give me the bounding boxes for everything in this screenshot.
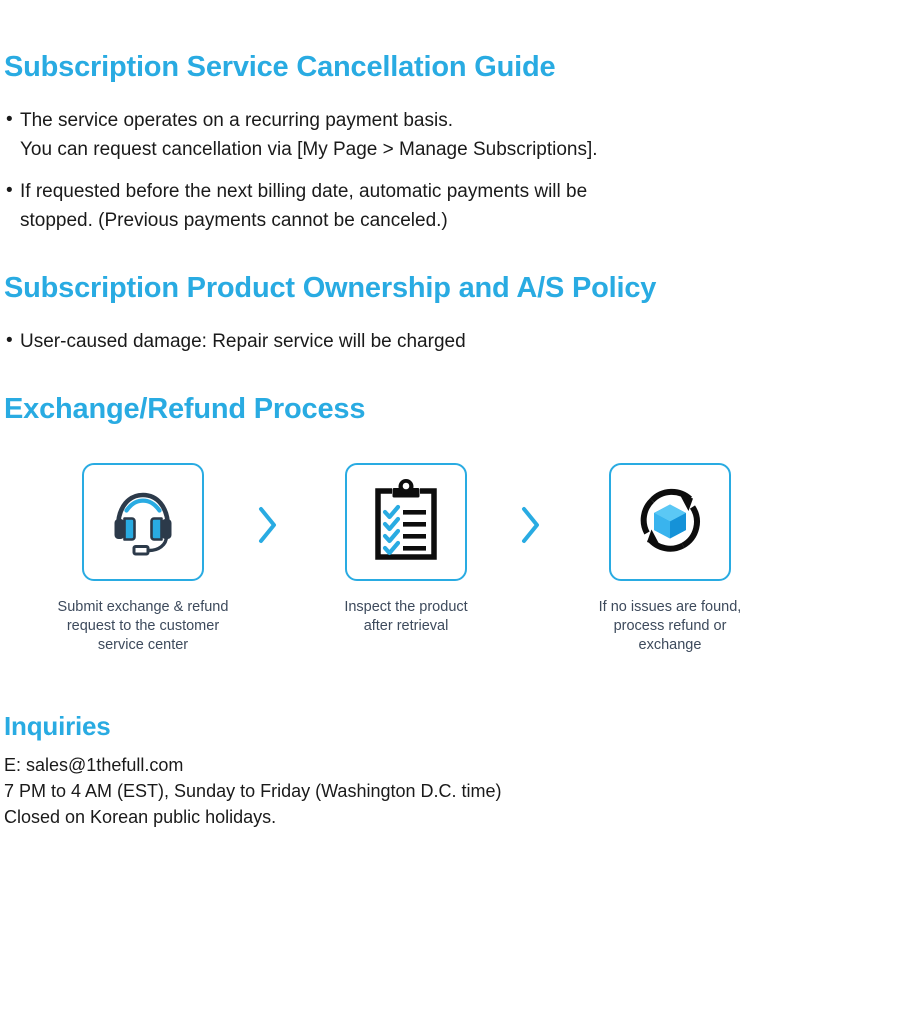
list-item-line-1: The service operates on a recurring paym…	[20, 110, 453, 131]
process-step-3: If no issues are found, process refund o…	[555, 455, 785, 655]
process-step-3-caption: If no issues are found, process refund o…	[555, 598, 785, 655]
process-step-1-icon-box	[82, 463, 204, 581]
process-step-3-icon-box	[609, 463, 731, 581]
page-title-cancellation-guide: Subscription Service Cancellation Guide	[4, 52, 555, 84]
inquiry-hours: 7 PM to 4 AM (EST), Sunday to Friday (Wa…	[4, 779, 502, 804]
process-step-1: Submit exchange & refund request to the …	[28, 455, 258, 655]
page-title-inquiries: Inquiries	[4, 712, 111, 741]
process-step-1-caption: Submit exchange & refund request to the …	[28, 598, 258, 655]
page-title-exchange-refund-process: Exchange/Refund Process	[4, 394, 365, 426]
refresh-box-icon	[630, 480, 710, 565]
clipboard-checklist-icon	[370, 479, 442, 566]
list-item-text: The service operates on a recurring paym…	[20, 106, 598, 164]
list-item: • User-caused damage: Repair service wil…	[6, 327, 466, 356]
guide-page: Subscription Service Cancellation Guide …	[0, 0, 898, 1012]
chevron-right-icon-2	[511, 502, 551, 548]
list-item-line-2: stopped. (Previous payments cannot be ca…	[20, 206, 587, 235]
process-step-2-icon-box	[345, 463, 467, 581]
list-item-line-2: You can request cancellation via [My Pag…	[20, 135, 598, 164]
process-step-2: Inspect the product after retrieval	[291, 455, 521, 636]
list-item-line-1: If requested before the next billing dat…	[20, 181, 587, 202]
list-item-line-1: User-caused damage: Repair service will …	[20, 331, 466, 352]
bullet-marker: •	[6, 327, 20, 355]
headset-icon	[105, 482, 181, 563]
bullet-marker: •	[6, 106, 20, 134]
process-step-2-caption: Inspect the product after retrieval	[291, 598, 521, 636]
page-title-ownership-policy: Subscription Product Ownership and A/S P…	[4, 273, 656, 305]
inquiry-holidays: Closed on Korean public holidays.	[4, 805, 276, 830]
process-flow: Submit exchange & refund request to the …	[0, 455, 815, 675]
list-item-text: User-caused damage: Repair service will …	[20, 327, 466, 356]
chevron-right-icon-1	[248, 502, 288, 548]
list-item-text: If requested before the next billing dat…	[20, 177, 587, 235]
bullet-marker: •	[6, 177, 20, 205]
list-item: • If requested before the next billing d…	[6, 177, 587, 235]
list-item: • The service operates on a recurring pa…	[6, 106, 598, 164]
inquiry-email: E: sales@1thefull.com	[4, 753, 183, 778]
